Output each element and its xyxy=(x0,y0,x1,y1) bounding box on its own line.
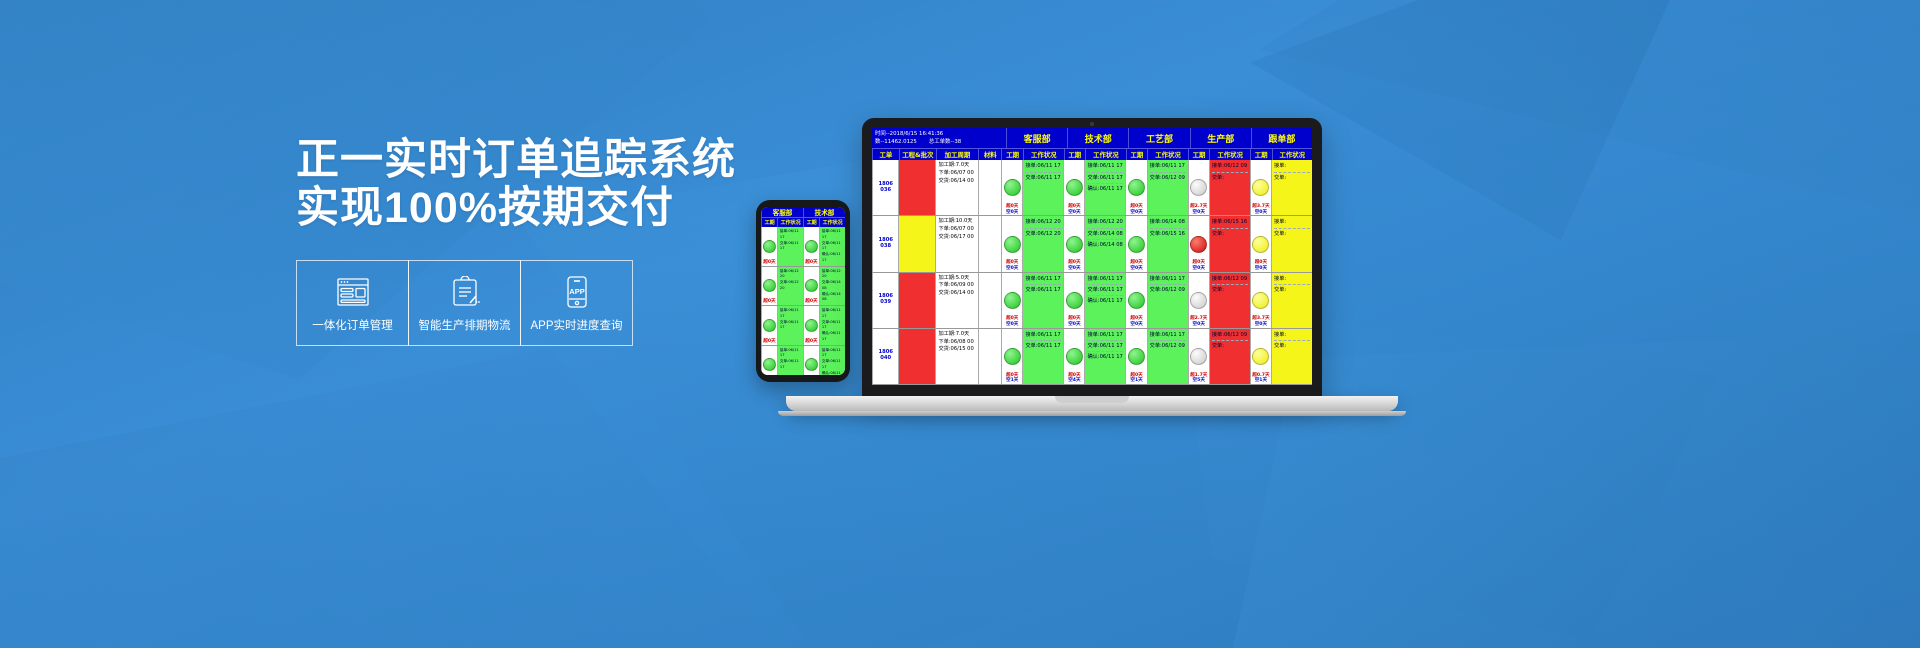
cell-term-d0: 超0天空1天 xyxy=(1001,329,1022,384)
phone-cell-term-d0: 超0天 xyxy=(761,227,777,266)
tag-idle: 空5天 xyxy=(1193,378,1205,384)
mobile-app-icon: APP xyxy=(565,273,589,311)
cell-term-d4: 超0.7天空1天 xyxy=(1250,329,1271,384)
col-header-d4-term: 工期 xyxy=(1250,149,1272,160)
meta-time: 时间--2018/6/15 16:41:36 xyxy=(875,130,1003,138)
laptop-foot xyxy=(778,411,1406,416)
status-receive: 接单: xyxy=(1274,331,1310,339)
status-dot-y xyxy=(1252,179,1269,196)
cell-status-d3: 接单:06/12 09交单: xyxy=(1209,160,1250,215)
phone-status-receive: 接单:06/11 17 xyxy=(822,229,843,241)
status-dot-w xyxy=(1190,179,1207,196)
cell-status-d4: 接单:交单: xyxy=(1271,216,1312,271)
status-dot-g xyxy=(1128,348,1145,365)
phone-col-status-1: 工作状况 xyxy=(777,218,803,227)
tag-idle: 空0天 xyxy=(1193,266,1205,272)
phone-status-confirm: 确认:06/11 17 xyxy=(822,252,843,264)
tag-idle: 空1天 xyxy=(1006,378,1018,384)
cell-material xyxy=(978,273,1001,328)
tag-idle: 空0天 xyxy=(1006,266,1018,272)
col-header-base-1: 工程&批次 xyxy=(899,149,936,160)
cell-work-order: 1806039 xyxy=(872,273,898,328)
phone-status-confirm: 确认:06/11 17 xyxy=(822,331,843,343)
cell-material xyxy=(978,160,1001,215)
phone-column-header: 工期 工作状况 工期 工作状况 xyxy=(761,217,845,227)
app-topbar: 时间--2018/6/15 16:41:36 数--11462.0125 总工单… xyxy=(872,128,1312,148)
tag-idle: 空0天 xyxy=(1255,266,1267,272)
status-receive: 接单:06/11 17 xyxy=(1087,331,1123,339)
cell-term-d2: 超0天空0天 xyxy=(1125,216,1146,271)
status-receive: 接单:06/11 17 xyxy=(1025,162,1061,170)
status-receive: 接单:06/11 17 xyxy=(1087,162,1123,170)
phone-dept-customer-service[interactable]: 客服部 xyxy=(761,207,803,217)
col-header-d3-status: 工作状况 xyxy=(1209,149,1250,160)
status-dot-g xyxy=(1004,348,1021,365)
status-receive: 接单:06/11 17 xyxy=(1150,275,1186,283)
phone-table-row[interactable]: 超0天接单:06/11 17交单:06/11 17超0天接单:06/11 17交… xyxy=(761,227,845,267)
phone-table-body: 超0天接单:06/11 17交单:06/11 17超0天接单:06/11 17交… xyxy=(761,227,845,375)
status-deliver: 交单:06/11 17 xyxy=(1087,286,1123,294)
phone-status-receive: 接单:06/11 17 xyxy=(822,348,843,360)
phone-status-deliver: 交单:06/11 17 xyxy=(780,241,801,253)
tag-idle: 空0天 xyxy=(1068,210,1080,216)
tag-idle: 空0天 xyxy=(1006,210,1018,216)
status-dot-g xyxy=(1066,292,1083,309)
tag-idle: 空0天 xyxy=(1193,322,1205,328)
phone-table-row[interactable]: 超0天接单:06/12 20交单:06/12 20超0天接单:06/12 20交… xyxy=(761,267,845,307)
feature-item-production-scheduling[interactable]: 智能生产排期物流 xyxy=(408,260,521,346)
status-deliver: 交单: xyxy=(1274,230,1310,238)
status-receive: 接单: xyxy=(1274,218,1310,226)
status-deliver: 交单:06/11 17 xyxy=(1025,286,1061,294)
phone-status-receive: 接单:06/11 17 xyxy=(780,348,801,360)
phone-status-deliver: 交单:06/12 20 xyxy=(780,280,801,292)
status-receive: 接单:06/12 20 xyxy=(1087,218,1123,226)
cell-status-d1: 接单:06/12 20交单:06/14 08确认:06/14 08 xyxy=(1084,216,1125,271)
status-receive: 接单:06/12 09 xyxy=(1212,331,1248,339)
cell-term-d3: 超2.7天空0天 xyxy=(1188,160,1209,215)
cell-term-d3: 超0天空0天 xyxy=(1188,216,1209,271)
table-body: 1806036加工期:7.0天下单:06/07 00交货:06/14 00超0天… xyxy=(872,160,1312,385)
cell-work-order: 1806038 xyxy=(872,216,898,271)
phone-dashboard-app: 客服部 技术部 工期 工作状况 工期 工作状况 超0天接单:06/11 17交单… xyxy=(761,207,845,375)
col-header-d1-status: 工作状况 xyxy=(1085,149,1126,160)
status-receive: 接单: xyxy=(1274,275,1310,283)
phone-screen: 客服部 技术部 工期 工作状况 工期 工作状况 超0天接单:06/11 17交单… xyxy=(761,207,845,375)
cell-status-d3: 接单:06/12 09交单: xyxy=(1209,273,1250,328)
cell-term-d2: 超0天空0天 xyxy=(1125,273,1146,328)
status-deliver: 交单:06/14 08 xyxy=(1087,230,1123,238)
status-deliver: 交单:06/12 09 xyxy=(1150,286,1186,294)
tag-idle: 空0天 xyxy=(1068,322,1080,328)
tag-idle: 空0天 xyxy=(1068,266,1080,272)
phone-cell-term-d1: 超0天 xyxy=(803,306,819,345)
window-layout-icon xyxy=(336,273,370,311)
status-confirm: 确认:06/11 17 xyxy=(1087,297,1123,305)
dept-technology[interactable]: 技术部 xyxy=(1067,128,1128,148)
status-receive: 接单:06/12 20 xyxy=(1025,218,1061,226)
cell-status-d1: 接单:06/11 17交单:06/11 17确认:06/11 17 xyxy=(1084,273,1125,328)
cell-processing-cycle: 加工期:7.0天下单:06/08 00交货:06/15 00 xyxy=(935,329,978,384)
tag-idle: 空1天 xyxy=(1255,378,1267,384)
status-receive: 接单:06/11 17 xyxy=(1150,331,1186,339)
phone-dept-technology[interactable]: 技术部 xyxy=(803,207,845,217)
status-deliver: 交单: xyxy=(1212,286,1248,294)
status-deliver: 交单:06/12 09 xyxy=(1150,174,1186,182)
dashboard-app: 时间--2018/6/15 16:41:36 数--11462.0125 总工单… xyxy=(872,128,1312,385)
phone-status-receive: 接单:06/12 20 xyxy=(822,269,843,281)
status-receive: 接单:06/15 16 xyxy=(1212,218,1248,226)
svg-text:APP: APP xyxy=(569,287,584,296)
status-dot-g xyxy=(1004,292,1021,309)
cell-status-d4: 接单:交单: xyxy=(1271,160,1312,215)
cell-project-batch xyxy=(898,216,935,271)
status-dot-y xyxy=(1252,236,1269,253)
status-dot-g xyxy=(1004,179,1021,196)
meta-count: 数--11462.0125 xyxy=(875,138,917,146)
tag-idle: 空0天 xyxy=(1006,322,1018,328)
tag-idle: 空0天 xyxy=(1255,210,1267,216)
phone-status-confirm: 确认:06/11 17 xyxy=(822,371,843,376)
phone-cell-status-d0: 接单:06/11 17交单:06/11 17 xyxy=(777,306,803,345)
cell-processing-cycle: 加工期:5.0天下单:06/09 00交货:06/14 00 xyxy=(935,273,978,328)
tag-idle: 空0天 xyxy=(1130,266,1142,272)
cell-term-d3: 超2.7天空0天 xyxy=(1188,273,1209,328)
status-dot-g xyxy=(1004,236,1021,253)
cell-status-d0: 接单:06/11 17交单:06/11 17 xyxy=(1022,273,1063,328)
cell-term-d0: 超0天空0天 xyxy=(1001,273,1022,328)
status-dot-g xyxy=(1066,236,1083,253)
status-dot-g xyxy=(1066,179,1083,196)
cell-project-batch xyxy=(898,329,935,384)
phone-cell-status-d0: 接单:06/12 20交单:06/12 20 xyxy=(777,267,803,306)
feature-label: APP实时进度查询 xyxy=(530,317,622,333)
col-header-d0-term: 工期 xyxy=(1001,149,1023,160)
status-deliver: 交单: xyxy=(1274,342,1310,350)
status-dot-w xyxy=(1190,292,1207,309)
phone-status-dot xyxy=(763,358,776,371)
cell-project-batch xyxy=(898,160,935,215)
phone-status-receive: 接单:06/11 17 xyxy=(780,229,801,241)
col-header-d3-term: 工期 xyxy=(1188,149,1210,160)
laptop-base xyxy=(786,396,1398,411)
laptop-mockup: 时间--2018/6/15 16:41:36 数--11462.0125 总工单… xyxy=(862,118,1322,418)
tag-idle: 空0天 xyxy=(1255,322,1267,328)
cell-status-d0: 接单:06/11 17交单:06/11 17 xyxy=(1022,160,1063,215)
phone-tag-overdue: 超0天 xyxy=(805,260,817,266)
tag-idle: 空0天 xyxy=(1130,322,1142,328)
cell-status-d2: 接单:06/11 17交单:06/12 09 xyxy=(1147,160,1188,215)
col-header-base-2: 加工周期 xyxy=(936,149,978,160)
phone-status-deliver: 交单:06/11 17 xyxy=(822,359,843,371)
table-row[interactable]: 1806038加工期:10.0天下单:06/07 00交货:06/17 00超0… xyxy=(872,216,1312,272)
col-header-base-0: 工单 xyxy=(872,149,899,160)
status-dot-w xyxy=(1190,348,1207,365)
status-dot-g xyxy=(1128,292,1145,309)
status-confirm: 确认:06/14 08 xyxy=(1087,241,1123,249)
dept-process[interactable]: 工艺部 xyxy=(1128,128,1189,148)
cell-status-d2: 接单:06/14 08交单:06/15 16 xyxy=(1147,216,1188,271)
status-receive: 接单:06/11 17 xyxy=(1087,275,1123,283)
status-receive: 接单:06/11 17 xyxy=(1150,162,1186,170)
column-header-row: 工单工程&批次加工周期材料工期工作状况工期工作状况工期工作状况工期工作状况工期工… xyxy=(872,148,1312,160)
status-dot-r xyxy=(1190,236,1207,253)
webcam-icon xyxy=(1090,122,1094,126)
headline-line-1: 正一实时订单追踪系统 xyxy=(296,136,736,184)
phone-status-receive: 接单:06/11 17 xyxy=(822,308,843,320)
status-receive: 接单:06/11 17 xyxy=(1025,275,1061,283)
phone-table-row[interactable]: 超0天接单:06/11 17交单:06/11 17超0天接单:06/11 17交… xyxy=(761,346,845,376)
phone-cell-term-d1: 超0天 xyxy=(803,267,819,306)
status-confirm: 确认:06/11 17 xyxy=(1087,353,1123,361)
cell-term-d0: 超0天空0天 xyxy=(1001,160,1022,215)
status-dot-y xyxy=(1252,348,1269,365)
table-row[interactable]: 1806039加工期:5.0天下单:06/09 00交货:06/14 00超0天… xyxy=(872,273,1312,329)
status-dot-g xyxy=(1128,179,1145,196)
feature-item-app-progress-query[interactable]: APP APP实时进度查询 xyxy=(520,260,633,346)
status-deliver: 交单: xyxy=(1212,230,1248,238)
status-deliver: 交单: xyxy=(1212,342,1248,350)
phone-status-dot xyxy=(805,279,818,292)
smartphone-mockup: 客服部 技术部 工期 工作状况 工期 工作状况 超0天接单:06/11 17交单… xyxy=(756,200,850,382)
meta-total-orders: 总工单数--38 xyxy=(929,138,961,146)
cell-material xyxy=(978,329,1001,384)
phone-status-confirm: 确认:06/14 08 xyxy=(822,292,843,304)
cell-status-d0: 接单:06/12 20交单:06/12 20 xyxy=(1022,216,1063,271)
phone-cell-term-d0: 超0天 xyxy=(761,267,777,306)
table-row[interactable]: 1806036加工期:7.0天下单:06/07 00交货:06/14 00超0天… xyxy=(872,160,1312,216)
hero-copy: 正一实时订单追踪系统 实现100%按期交付 xyxy=(296,136,736,232)
cell-term-d2: 超0天空0天 xyxy=(1125,160,1146,215)
table-row[interactable]: 1806040加工期:7.0天下单:06/08 00交货:06/15 00超0天… xyxy=(872,329,1312,385)
app-meta-info: 时间--2018/6/15 16:41:36 数--11462.0125 总工单… xyxy=(872,128,1006,148)
phone-cell-term-d1: 超0天 xyxy=(803,227,819,266)
phone-col-status-2: 工作状况 xyxy=(819,218,845,227)
feature-label: 智能生产排期物流 xyxy=(419,317,511,333)
status-dot-g xyxy=(1128,236,1145,253)
col-header-d2-term: 工期 xyxy=(1126,149,1148,160)
phone-status-deliver: 交单:06/14 08 xyxy=(822,280,843,292)
status-deliver: 交单:06/11 17 xyxy=(1025,174,1061,182)
phone-cell-status-d0: 接单:06/11 17交单:06/11 17 xyxy=(777,227,803,266)
dept-header-row: 客服部 技术部 工艺部 生产部 跟单部 xyxy=(1006,128,1312,148)
phone-tag-overdue: 超0天 xyxy=(763,299,775,305)
phone-cell-status-d1: 接单:06/12 20交单:06/14 08确认:06/14 08 xyxy=(819,267,845,306)
cell-term-d0: 超0天空0天 xyxy=(1001,216,1022,271)
phone-col-term-1: 工期 xyxy=(761,218,777,227)
feature-label: 一体化订单管理 xyxy=(312,317,393,333)
dept-production[interactable]: 生产部 xyxy=(1190,128,1251,148)
phone-status-receive: 接单:06/12 20 xyxy=(780,269,801,281)
status-receive: 接单:06/12 09 xyxy=(1212,162,1248,170)
tag-idle: 空0天 xyxy=(1130,210,1142,216)
cell-term-d1: 超0天空4天 xyxy=(1063,329,1084,384)
cell-status-d2: 接单:06/11 17交单:06/12 09 xyxy=(1147,329,1188,384)
phone-status-dot xyxy=(805,358,818,371)
cell-processing-cycle: 加工期:7.0天下单:06/07 00交货:06/14 00 xyxy=(935,160,978,215)
cell-work-order: 1806036 xyxy=(872,160,898,215)
col-header-d0-status: 工作状况 xyxy=(1023,149,1064,160)
phone-col-term-2: 工期 xyxy=(803,218,819,227)
phone-status-deliver: 交单:06/11 17 xyxy=(780,320,801,332)
headline-line-2: 实现100%按期交付 xyxy=(296,184,736,232)
phone-cell-term-d0: 超0天 xyxy=(761,306,777,345)
cell-term-d4: 超0天空0天 xyxy=(1250,216,1271,271)
cell-status-d3: 接单:06/15 16交单: xyxy=(1209,216,1250,271)
status-deliver: 交单:06/12 09 xyxy=(1150,342,1186,350)
phone-tag-overdue: 超0天 xyxy=(763,339,775,345)
col-header-d1-term: 工期 xyxy=(1064,149,1086,160)
status-deliver: 交单:06/15 16 xyxy=(1150,230,1186,238)
cell-project-batch xyxy=(898,273,935,328)
cell-status-d1: 接单:06/11 17交单:06/11 17确认:06/11 17 xyxy=(1084,329,1125,384)
phone-status-receive: 接单:06/11 17 xyxy=(780,308,801,320)
phone-dept-row: 客服部 技术部 xyxy=(761,207,845,217)
phone-tag-overdue: 超0天 xyxy=(763,260,775,266)
cell-term-d3: 超1.7天空5天 xyxy=(1188,329,1209,384)
tag-idle: 空4天 xyxy=(1068,378,1080,384)
col-header-d4-status: 工作状况 xyxy=(1272,149,1313,160)
phone-notch xyxy=(786,200,820,208)
laptop-screen: 时间--2018/6/15 16:41:36 数--11462.0125 总工单… xyxy=(872,128,1312,385)
phone-tag-overdue: 超0天 xyxy=(805,299,817,305)
tag-idle: 空0天 xyxy=(1193,210,1205,216)
phone-status-deliver: 交单:06/11 17 xyxy=(822,320,843,332)
phone-dept-header: 客服部 技术部 xyxy=(761,207,845,217)
cell-term-d4: 超3.7天空0天 xyxy=(1250,160,1271,215)
status-receive: 接单:06/14 08 xyxy=(1150,218,1186,226)
phone-tag-overdue: 超0天 xyxy=(805,339,817,345)
status-receive: 接单:06/12 09 xyxy=(1212,275,1248,283)
phone-status-deliver: 交单:06/11 17 xyxy=(780,359,801,371)
status-receive: 接单:06/11 17 xyxy=(1025,331,1061,339)
phone-status-deliver: 交单:06/11 17 xyxy=(822,241,843,253)
cell-status-d2: 接单:06/11 17交单:06/12 09 xyxy=(1147,273,1188,328)
phone-cell-status-d0: 接单:06/11 17交单:06/11 17 xyxy=(777,346,803,376)
col-header-d2-status: 工作状况 xyxy=(1147,149,1188,160)
status-dot-y xyxy=(1252,292,1269,309)
phone-cell-term-d1: 超0天 xyxy=(803,346,819,376)
phone-cell-status-d1: 接单:06/11 17交单:06/11 17确认:06/11 17 xyxy=(819,227,845,266)
cell-work-order: 1806040 xyxy=(872,329,898,384)
status-deliver: 交单:06/12 20 xyxy=(1025,230,1061,238)
banner-stage: 正一实时订单追踪系统 实现100%按期交付 一体化订单管理 xyxy=(0,0,1920,648)
cell-status-d4: 接单:交单: xyxy=(1271,329,1312,384)
feature-list: 一体化订单管理 智能生产排期物流 xyxy=(296,260,632,346)
status-dot-g xyxy=(1066,348,1083,365)
status-deliver: 交单: xyxy=(1212,174,1248,182)
cell-status-d4: 接单:交单: xyxy=(1271,273,1312,328)
feature-item-order-management[interactable]: 一体化订单管理 xyxy=(296,260,409,346)
phone-table-row[interactable]: 超0天接单:06/11 17交单:06/11 17超0天接单:06/11 17交… xyxy=(761,306,845,346)
phone-status-dot xyxy=(763,319,776,332)
status-deliver: 交单:06/11 17 xyxy=(1025,342,1061,350)
tag-idle: 空1天 xyxy=(1130,378,1142,384)
cell-term-d2: 超0天空1天 xyxy=(1125,329,1146,384)
cell-status-d1: 接单:06/11 17交单:06/11 17确认:06/11 17 xyxy=(1084,160,1125,215)
cell-status-d3: 接单:06/12 09交单: xyxy=(1209,329,1250,384)
cell-status-d0: 接单:06/11 17交单:06/11 17 xyxy=(1022,329,1063,384)
page-title: 正一实时订单追踪系统 实现100%按期交付 xyxy=(296,136,736,232)
phone-status-dot xyxy=(763,240,776,253)
phone-cell-status-d1: 接单:06/11 17交单:06/11 17确认:06/11 17 xyxy=(819,306,845,345)
cell-term-d1: 超0天空0天 xyxy=(1063,273,1084,328)
cell-term-d1: 超0天空0天 xyxy=(1063,216,1084,271)
dept-customer-service[interactable]: 客服部 xyxy=(1006,128,1067,148)
status-deliver: 交单: xyxy=(1274,174,1310,182)
status-receive: 接单: xyxy=(1274,162,1310,170)
status-deliver: 交单:06/11 17 xyxy=(1087,174,1123,182)
clipboard-checklist-icon xyxy=(450,273,480,311)
laptop-lid: 时间--2018/6/15 16:41:36 数--11462.0125 总工单… xyxy=(862,118,1322,399)
dept-merchandising[interactable]: 跟单部 xyxy=(1251,128,1312,148)
status-deliver: 交单: xyxy=(1274,286,1310,294)
col-header-base-3: 材料 xyxy=(978,149,1001,160)
cell-processing-cycle: 加工期:10.0天下单:06/07 00交货:06/17 00 xyxy=(935,216,978,271)
phone-status-dot xyxy=(805,240,818,253)
cell-term-d1: 超0天空0天 xyxy=(1063,160,1084,215)
cell-material xyxy=(978,216,1001,271)
cell-term-d4: 超3.7天空0天 xyxy=(1250,273,1271,328)
phone-status-dot xyxy=(805,319,818,332)
phone-cell-status-d1: 接单:06/11 17交单:06/11 17确认:06/11 17 xyxy=(819,346,845,376)
laptop-trackpad-notch xyxy=(1055,396,1129,403)
phone-status-dot xyxy=(763,279,776,292)
phone-cell-term-d0: 超0天 xyxy=(761,346,777,376)
status-confirm: 确认:06/11 17 xyxy=(1087,185,1123,193)
status-deliver: 交单:06/11 17 xyxy=(1087,342,1123,350)
